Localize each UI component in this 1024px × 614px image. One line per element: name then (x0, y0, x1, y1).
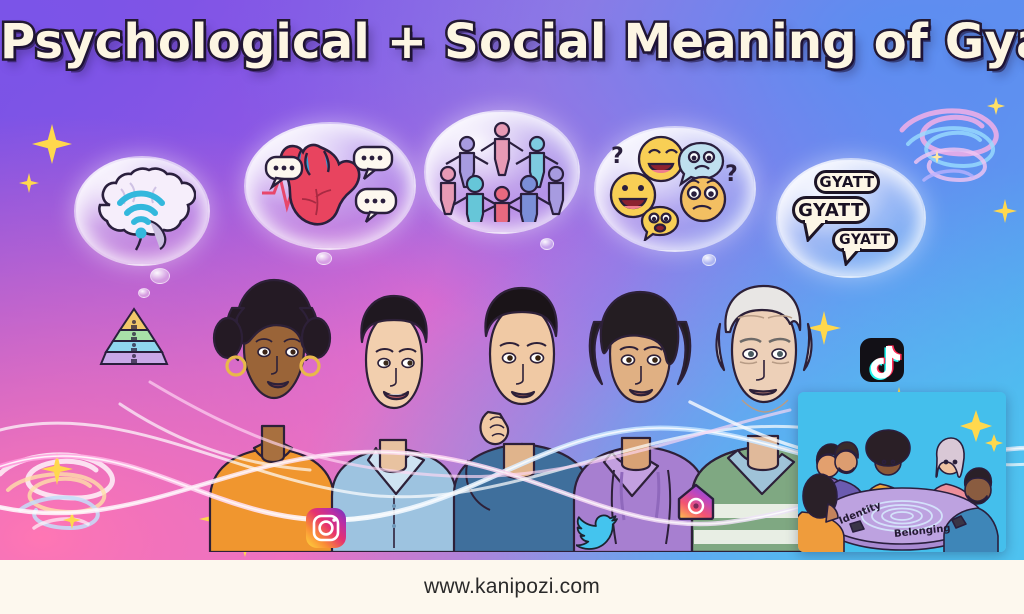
thought-bubble-trail-dot (316, 252, 332, 265)
people-circle-icon (437, 118, 567, 227)
footer-url: www.kanipozi.com (424, 575, 600, 599)
thought-bubble-trail-dot (540, 238, 554, 250)
thought-bubble-heart-chatter (244, 122, 416, 250)
tiktok-icon[interactable] (860, 338, 904, 387)
thought-bubble-trail-dot (150, 268, 170, 284)
sparkle-icon (30, 122, 74, 166)
sparkle-icon (986, 96, 1006, 116)
gyatt-bubble-1: GYATT (814, 170, 880, 194)
maslow-pyramid-icon (98, 306, 170, 373)
thought-bubble-brain-wifi (74, 156, 210, 266)
sparkle-icon (18, 172, 40, 194)
sparkle-icon (930, 150, 944, 164)
sparkle-icon (62, 510, 82, 530)
twitter-icon[interactable] (576, 514, 618, 555)
footer-bar: www.kanipozi.com (0, 560, 1024, 614)
heart-chat-icon (258, 131, 402, 242)
sparkle-icon (992, 198, 1018, 224)
page-title-text: Psychological + Social Meaning of Gyatt (0, 14, 1024, 70)
group-discussion-panel: Identity Belonging (798, 392, 1006, 552)
emoji-faces-icon: ? ? (605, 133, 745, 246)
poster-canvas: ? ? GYATT GYATT GYATT (0, 0, 1024, 614)
thought-bubble-trail-dot (138, 288, 150, 298)
swirl-decoration-bottom-left (0, 430, 134, 555)
brain-wifi-icon (88, 167, 196, 256)
house-icon[interactable] (676, 482, 716, 525)
thought-bubble-people-circle (424, 110, 580, 234)
thought-bubble-emoji-confusion: ? ? (594, 126, 756, 252)
gyatt-speech-bubble-cluster: GYATT GYATT GYATT (776, 158, 926, 278)
svg-text:?: ? (725, 162, 738, 187)
thought-bubble-trail-dot (702, 254, 716, 266)
illustration-area: ? ? GYATT GYATT GYATT (0, 0, 1024, 560)
page-title: Psychological + Social Meaning of Gyatt (0, 14, 1024, 70)
sparkle-icon (40, 452, 74, 486)
svg-text:?: ? (611, 144, 624, 169)
people-group (178, 252, 838, 552)
instagram-icon[interactable] (306, 508, 346, 553)
